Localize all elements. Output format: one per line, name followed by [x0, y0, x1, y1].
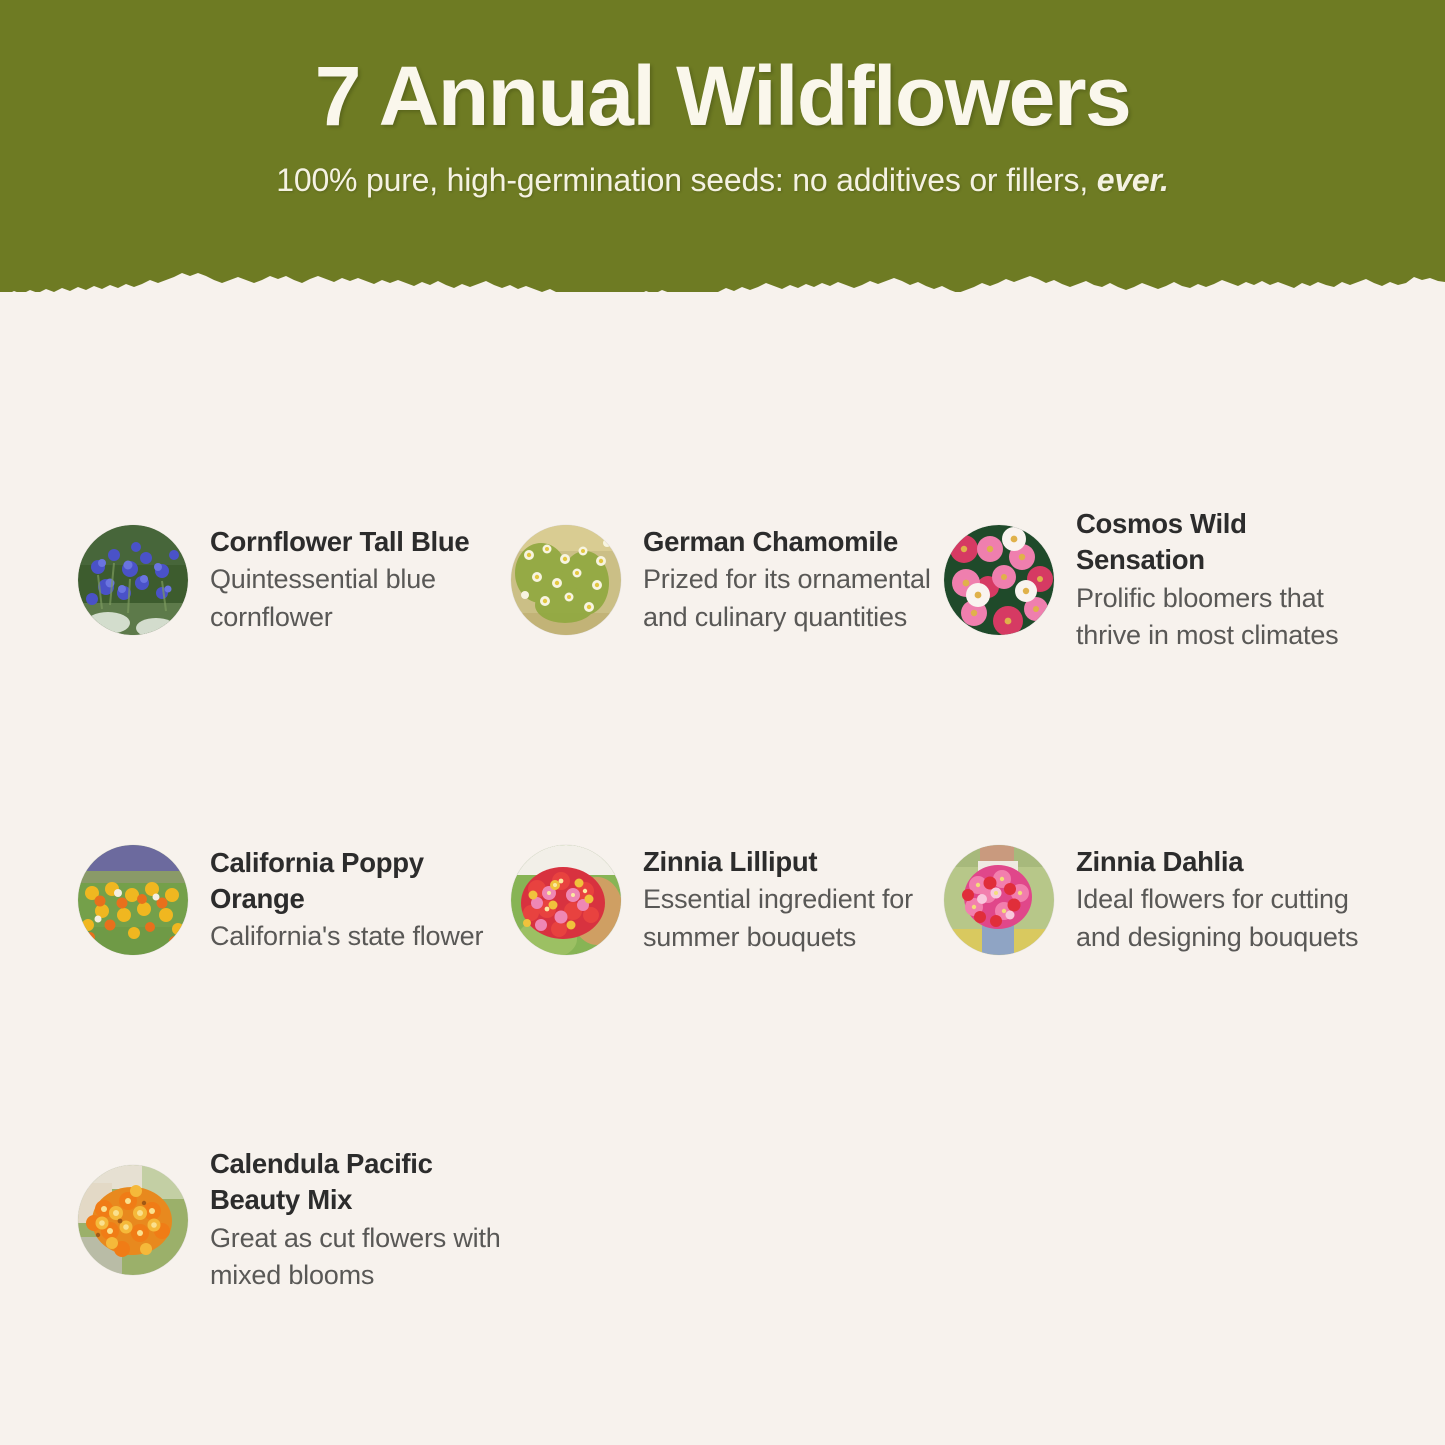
wildflower-grid: Cornflower Tall Blue Quintessential blue…	[78, 430, 1378, 1390]
item-description: Quintessential blue cornflower	[210, 561, 505, 636]
wildflower-item-zinnia-lilliput[interactable]: Zinnia Lilliput Essential ingredient for…	[511, 750, 944, 1050]
california-poppy-orange-thumbnail	[78, 845, 188, 955]
item-copy: Cornflower Tall Blue Quintessential blue…	[210, 524, 511, 636]
item-name: Cosmos Wild Sensation	[1076, 506, 1371, 579]
wildflower-item-german-chamomile[interactable]: German Chamomile Prized for its ornament…	[511, 430, 944, 730]
header-banner-content: 7 Annual Wildflowers 100% pure, high-ger…	[0, 0, 1445, 199]
item-description: California's state flower	[210, 918, 505, 955]
german-chamomile-thumbnail	[511, 525, 621, 635]
page-subtitle-main: 100% pure, high-germination seeds: no ad…	[276, 162, 1096, 198]
wildflower-item-cornflower-tall-blue[interactable]: Cornflower Tall Blue Quintessential blue…	[78, 430, 511, 730]
item-name: German Chamomile	[643, 524, 938, 560]
calendula-pacific-beauty-mix-thumbnail	[78, 1165, 188, 1275]
infographic-page: 7 Annual Wildflowers 100% pure, high-ger…	[0, 0, 1445, 1445]
item-description: Prized for its ornamental and culinary q…	[643, 561, 938, 636]
item-name: Calendula Pacific Beauty Mix	[210, 1146, 505, 1219]
item-copy: California Poppy Orange California's sta…	[210, 845, 511, 956]
wildflower-item-calendula-pacific-beauty-mix[interactable]: Calendula Pacific Beauty Mix Great as cu…	[78, 1070, 511, 1370]
page-subtitle-emphasis: ever.	[1097, 162, 1169, 198]
item-description: Ideal flowers for cutting and designing …	[1076, 881, 1371, 956]
grid-row: Cornflower Tall Blue Quintessential blue…	[78, 430, 1378, 750]
wildflower-item-california-poppy-orange[interactable]: California Poppy Orange California's sta…	[78, 750, 511, 1050]
item-copy: Zinnia Dahlia Ideal flowers for cutting …	[1076, 844, 1377, 956]
item-name: Cornflower Tall Blue	[210, 524, 505, 560]
item-copy: Zinnia Lilliput Essential ingredient for…	[643, 844, 944, 956]
zinnia-dahlia-thumbnail	[944, 845, 1054, 955]
item-name: Zinnia Dahlia	[1076, 844, 1371, 880]
page-subtitle: 100% pure, high-germination seeds: no ad…	[0, 162, 1445, 199]
wildflower-item-zinnia-dahlia[interactable]: Zinnia Dahlia Ideal flowers for cutting …	[944, 750, 1377, 1050]
page-title: 7 Annual Wildflowers	[0, 52, 1445, 140]
item-copy: Cosmos Wild Sensation Prolific bloomers …	[1076, 506, 1377, 654]
item-copy: German Chamomile Prized for its ornament…	[643, 524, 944, 636]
zinnia-lilliput-thumbnail	[511, 845, 621, 955]
item-description: Great as cut flowers with mixed blooms	[210, 1220, 505, 1295]
item-description: Prolific bloomers that thrive in most cl…	[1076, 580, 1371, 655]
item-description: Essential ingredient for summer bouquets	[643, 881, 938, 956]
grid-row: California Poppy Orange California's sta…	[78, 750, 1378, 1070]
cosmos-wild-sensation-thumbnail	[944, 525, 1054, 635]
cornflower-tall-blue-thumbnail	[78, 525, 188, 635]
header-banner: 7 Annual Wildflowers 100% pure, high-ger…	[0, 0, 1445, 292]
item-name: Zinnia Lilliput	[643, 844, 938, 880]
wildflower-item-cosmos-wild-sensation[interactable]: Cosmos Wild Sensation Prolific bloomers …	[944, 430, 1377, 730]
grid-row: Calendula Pacific Beauty Mix Great as cu…	[78, 1070, 1378, 1390]
item-copy: Calendula Pacific Beauty Mix Great as cu…	[210, 1146, 511, 1294]
item-name: California Poppy Orange	[210, 845, 505, 918]
